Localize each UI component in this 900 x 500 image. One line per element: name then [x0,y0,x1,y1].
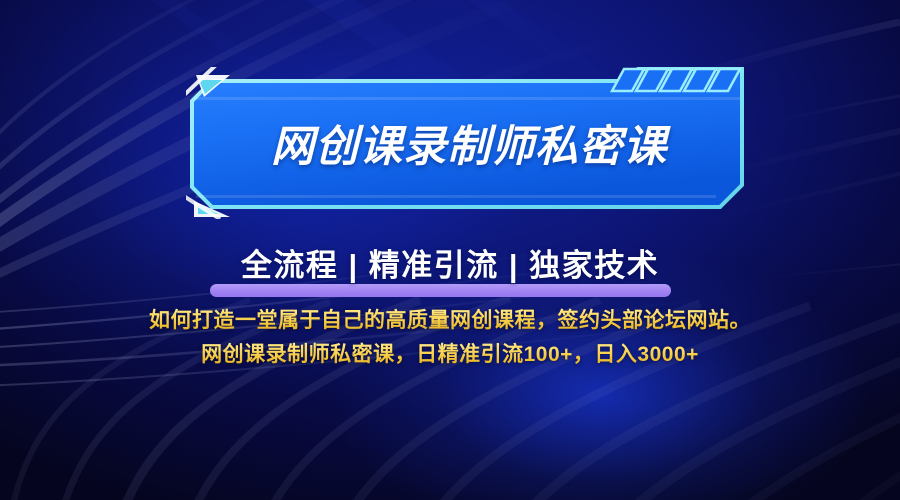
body-line-2: 网创课录制师私密课，日精准引流100+，日入3000+ [0,338,900,371]
subtitle-text: 全流程 | 精准引流 | 独家技术 [241,240,659,285]
poster-canvas: 网创课录制师私密课 全流程 | 精准引流 | 独家技术 如何打造一堂属于自己的高… [0,0,900,500]
title-banner: 网创课录制师私密课 [186,67,748,219]
body-text-block: 如何打造一堂属于自己的高质量网创课程，签约头部论坛网站。 网创课录制师私密课，日… [0,304,900,371]
subtitle-underline-bar [210,284,671,297]
subtitle-row: 全流程 | 精准引流 | 独家技术 [0,240,900,285]
banner-title-text: 网创课录制师私密课 [186,67,748,219]
body-line-1: 如何打造一堂属于自己的高质量网创课程，签约头部论坛网站。 [0,304,900,337]
